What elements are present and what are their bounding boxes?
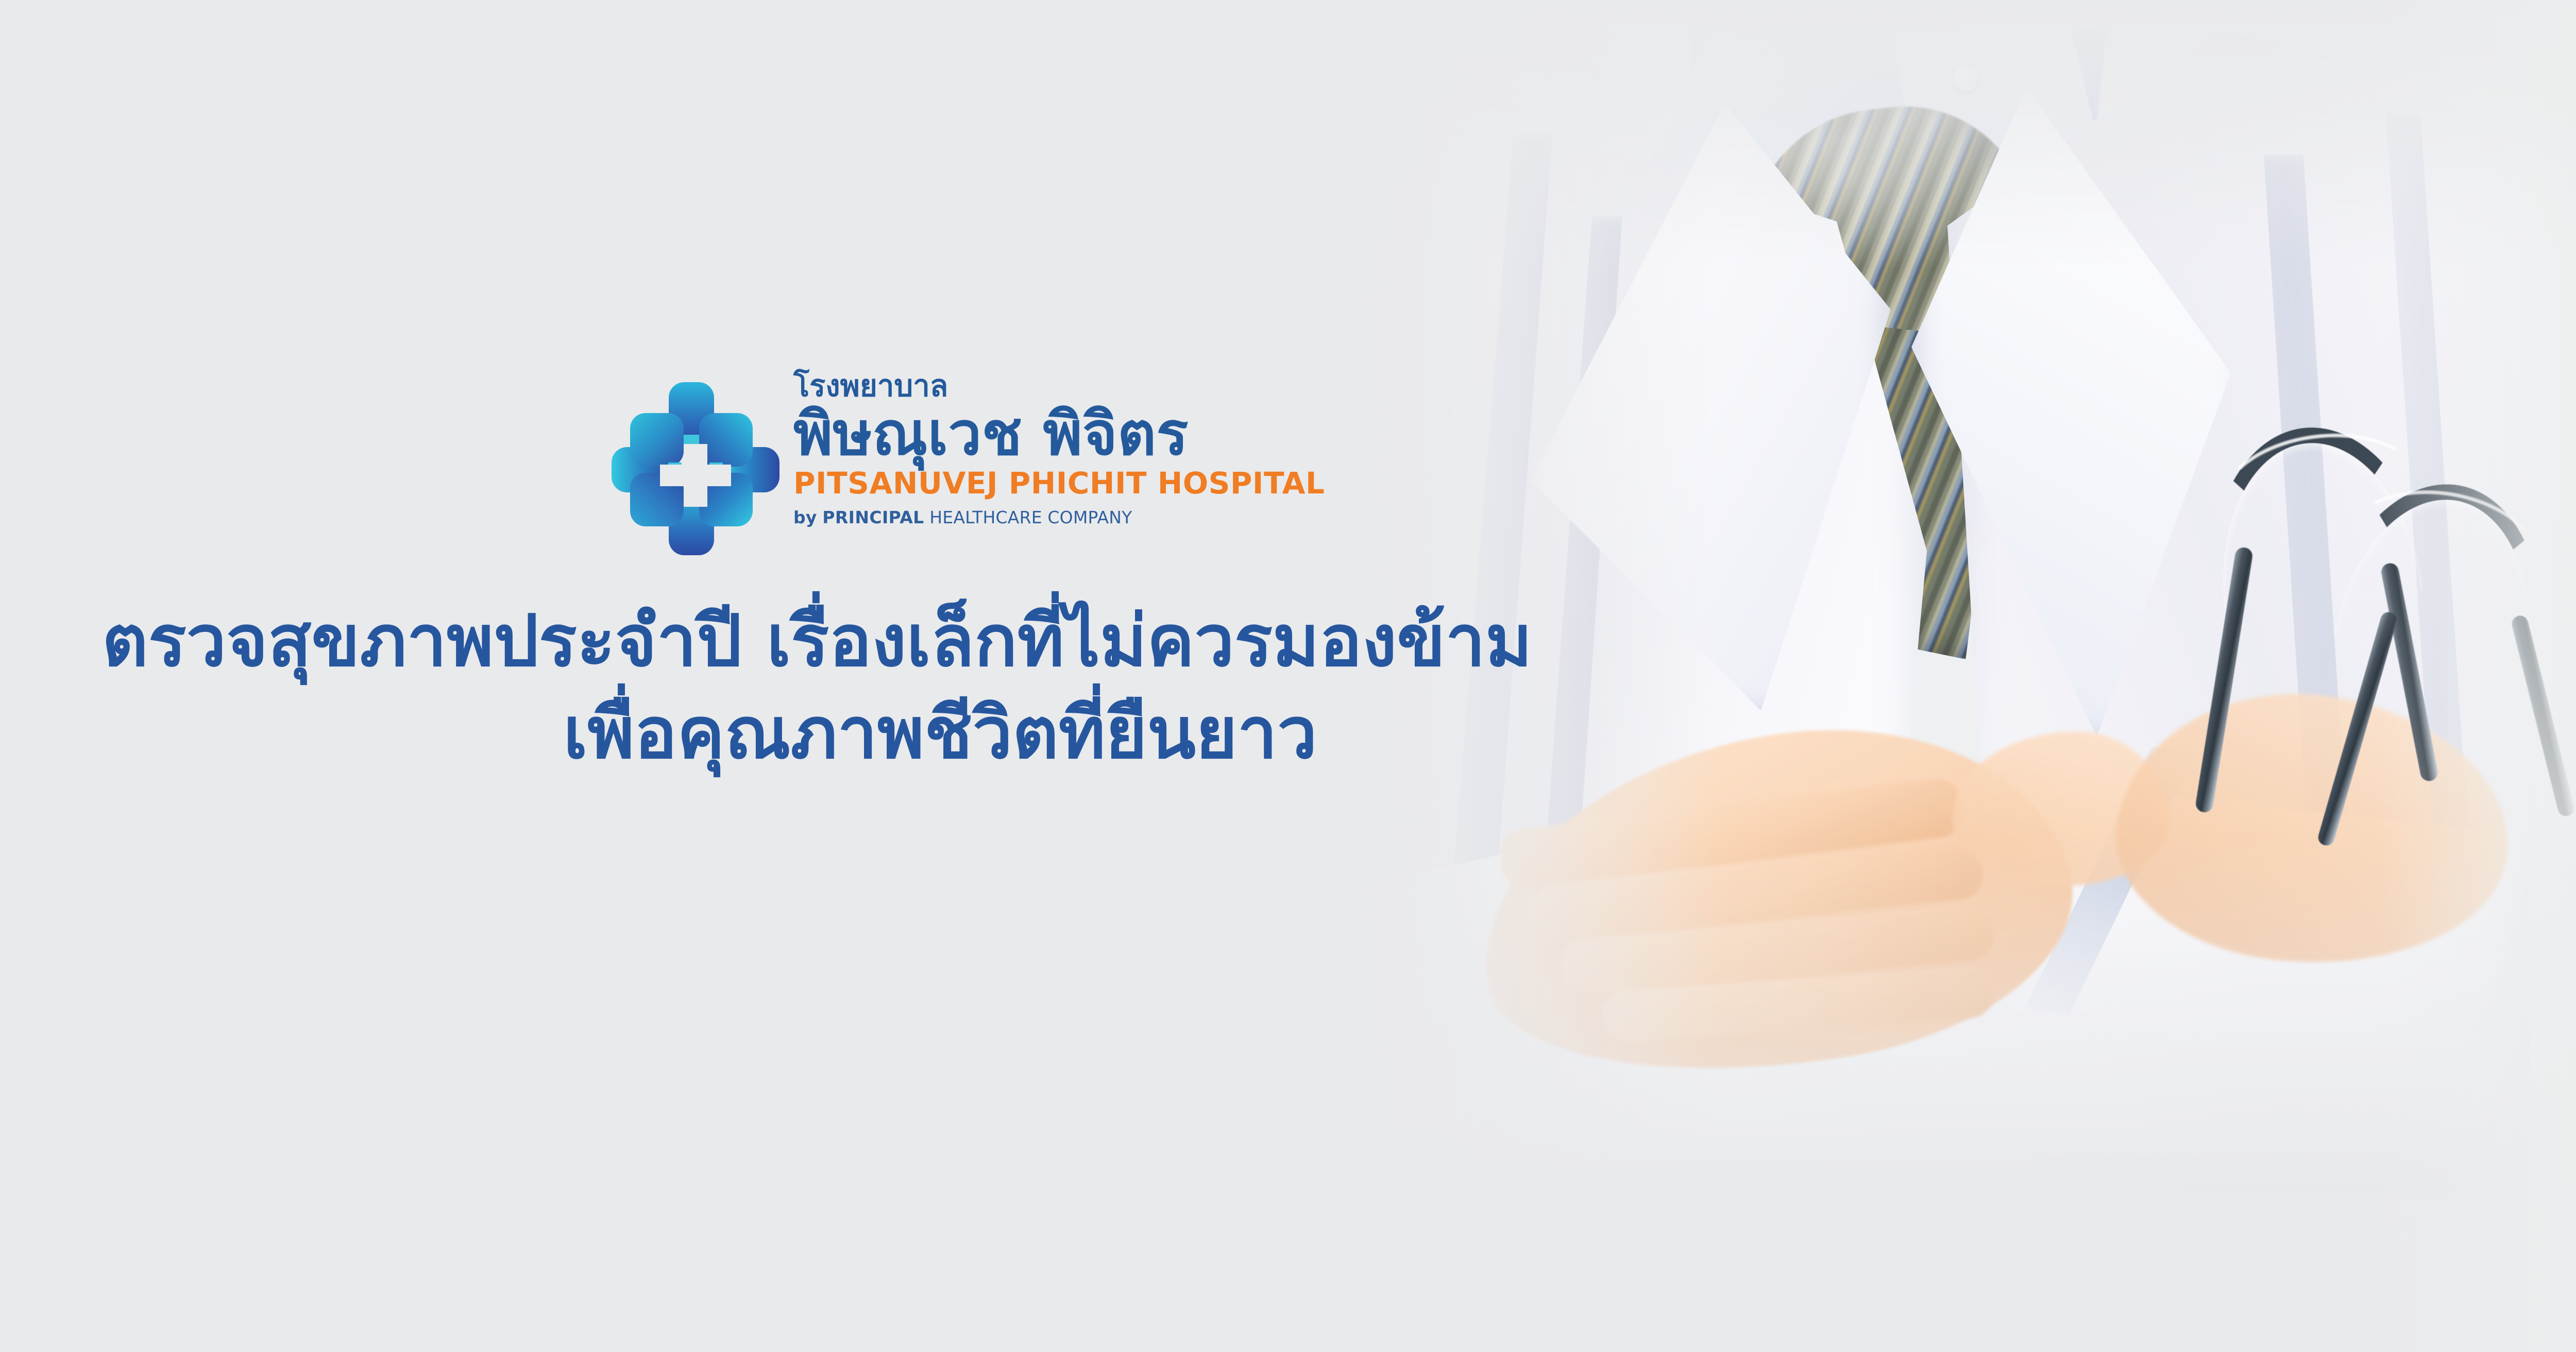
- logo-byline-prefix: by: [793, 507, 817, 527]
- logo-thai-name: พิษณุเวช พิจิตร: [793, 402, 1221, 466]
- headline-line-1: ตรวจสุขภาพประจำปี เรื่องเล็กที่ไม่ควรมอง…: [77, 595, 1803, 687]
- logo-thai-prefix: โรงพยาบาล: [793, 371, 1221, 401]
- logo-byline-brand-i: I: [849, 507, 855, 527]
- logo-byline-brand-a: PR: [822, 507, 848, 527]
- logo-english-name: PITSANUVEJ PHICHIT HOSPITAL: [793, 468, 1221, 498]
- headline-line-2: เพื่อคุณภาพชีวิตที่ยืนยาว: [77, 687, 1803, 779]
- logo-wordmark: โรงพยาบาล พิษณุเวช พิจิตร PITSANUVEJ PHI…: [793, 371, 1221, 561]
- headline-block: ตรวจสุขภาพประจำปี เรื่องเล็กที่ไม่ควรมอง…: [77, 595, 1803, 780]
- hospital-promo-banner: โรงพยาบาล พิษณุเวช พิจิตร PITSANUVEJ PHI…: [0, 0, 2576, 1352]
- logo-byline-brand-b: NCIPAL: [855, 507, 924, 527]
- logo-byline: by PRINCIPAL HEALTHCARE COMPANY: [793, 507, 1221, 527]
- cross-mark-icon: [611, 381, 781, 556]
- logo-byline-suffix: HEALTHCARE COMPANY: [929, 507, 1132, 527]
- hospital-logo: โรงพยาบาล พิษณุเวช พิจิตร PITSANUVEJ PHI…: [611, 371, 1229, 567]
- photo-fade-right: [2380, 0, 2576, 1352]
